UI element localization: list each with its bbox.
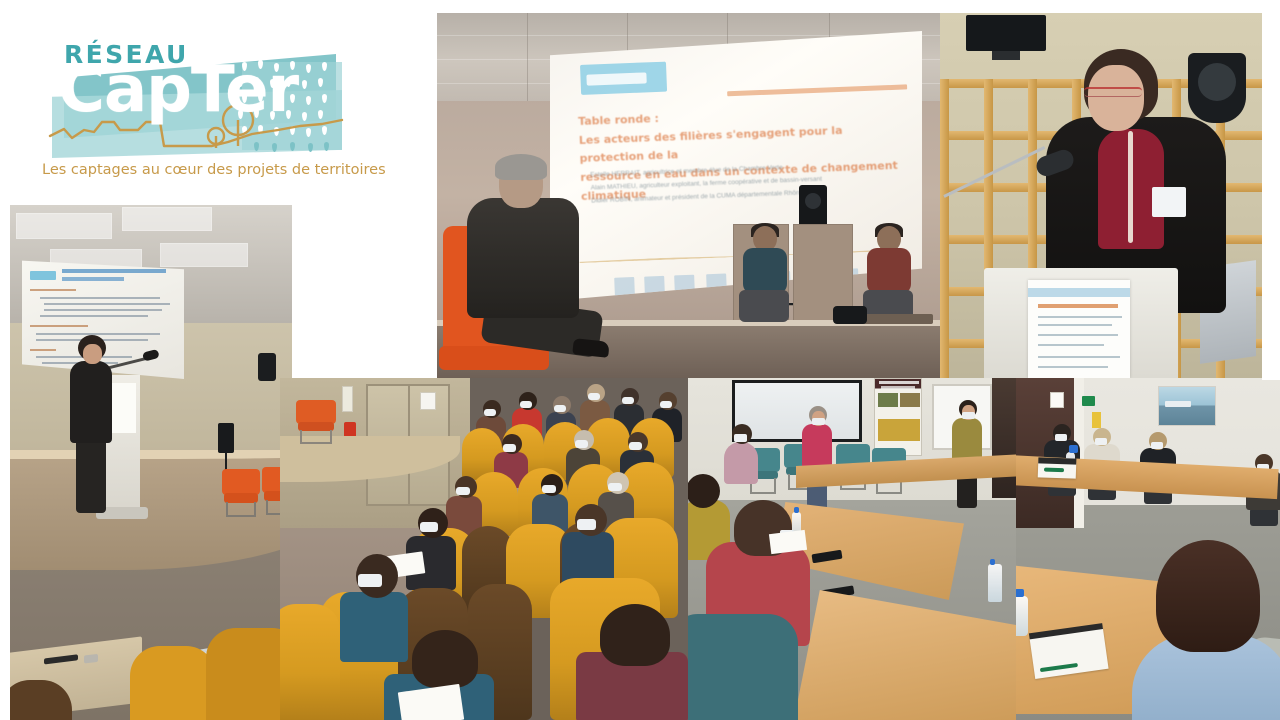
photo-presenter	[10, 205, 292, 720]
photo-workshop	[688, 378, 1018, 720]
panelist	[861, 226, 917, 322]
attendee	[406, 508, 456, 586]
photo-audience	[280, 378, 688, 720]
seam	[430, 0, 437, 205]
door-notice	[1050, 392, 1064, 408]
orange-chair	[222, 469, 260, 517]
clipboard	[1038, 461, 1077, 478]
photo-meeting	[1016, 378, 1280, 720]
presenter-person	[66, 335, 116, 517]
name-badge	[1152, 187, 1186, 217]
glasses-icon	[1084, 87, 1142, 97]
auditorium-seat	[280, 604, 340, 720]
participant	[688, 614, 798, 720]
podium-document	[1028, 280, 1130, 378]
loudspeaker-icon	[218, 423, 234, 453]
logo-panel: RÉSEAU CapTer Les captages au cœur des p…	[0, 0, 430, 205]
seam	[1262, 0, 1280, 380]
wall-sign	[420, 392, 436, 410]
attendee	[576, 604, 688, 720]
wall-sign	[1092, 412, 1101, 428]
wall-sign	[342, 386, 353, 412]
photo-slide-room: Table ronde : Les acteurs des filières s…	[437, 13, 942, 378]
water-bottle	[988, 564, 1002, 602]
facilitator	[950, 400, 984, 508]
seated-man	[455, 154, 607, 378]
orange-chair	[296, 400, 336, 444]
panelist	[737, 226, 793, 322]
auditorium-seat	[130, 646, 216, 720]
collage-canvas: RÉSEAU CapTer Les captages au cœur des p…	[0, 0, 1280, 720]
water-bottle	[1016, 596, 1028, 636]
photo-speaker	[940, 13, 1262, 378]
attendee	[562, 504, 614, 586]
seam	[0, 195, 437, 205]
logo-word-capter: CapTer	[58, 58, 298, 122]
wall-loudspeaker-icon	[258, 353, 276, 381]
door	[992, 378, 1018, 498]
exit-sign-icon	[1082, 396, 1095, 406]
conservation-poster	[874, 378, 922, 456]
foreground-participant	[1138, 530, 1280, 720]
reseau-capter-logo: RÉSEAU CapTer Les captages au cœur des p…	[42, 34, 358, 184]
attendee	[384, 630, 494, 720]
framed-seascape-photo	[1158, 386, 1216, 426]
bag	[833, 306, 867, 324]
slide-pretitle	[727, 84, 907, 96]
logo-tagline: Les captages au cœur des projets de terr…	[42, 162, 358, 178]
slide-logo	[580, 62, 667, 95]
wall-monitor-icon	[966, 15, 1046, 51]
seam	[0, 0, 10, 720]
facilitator	[800, 406, 834, 514]
